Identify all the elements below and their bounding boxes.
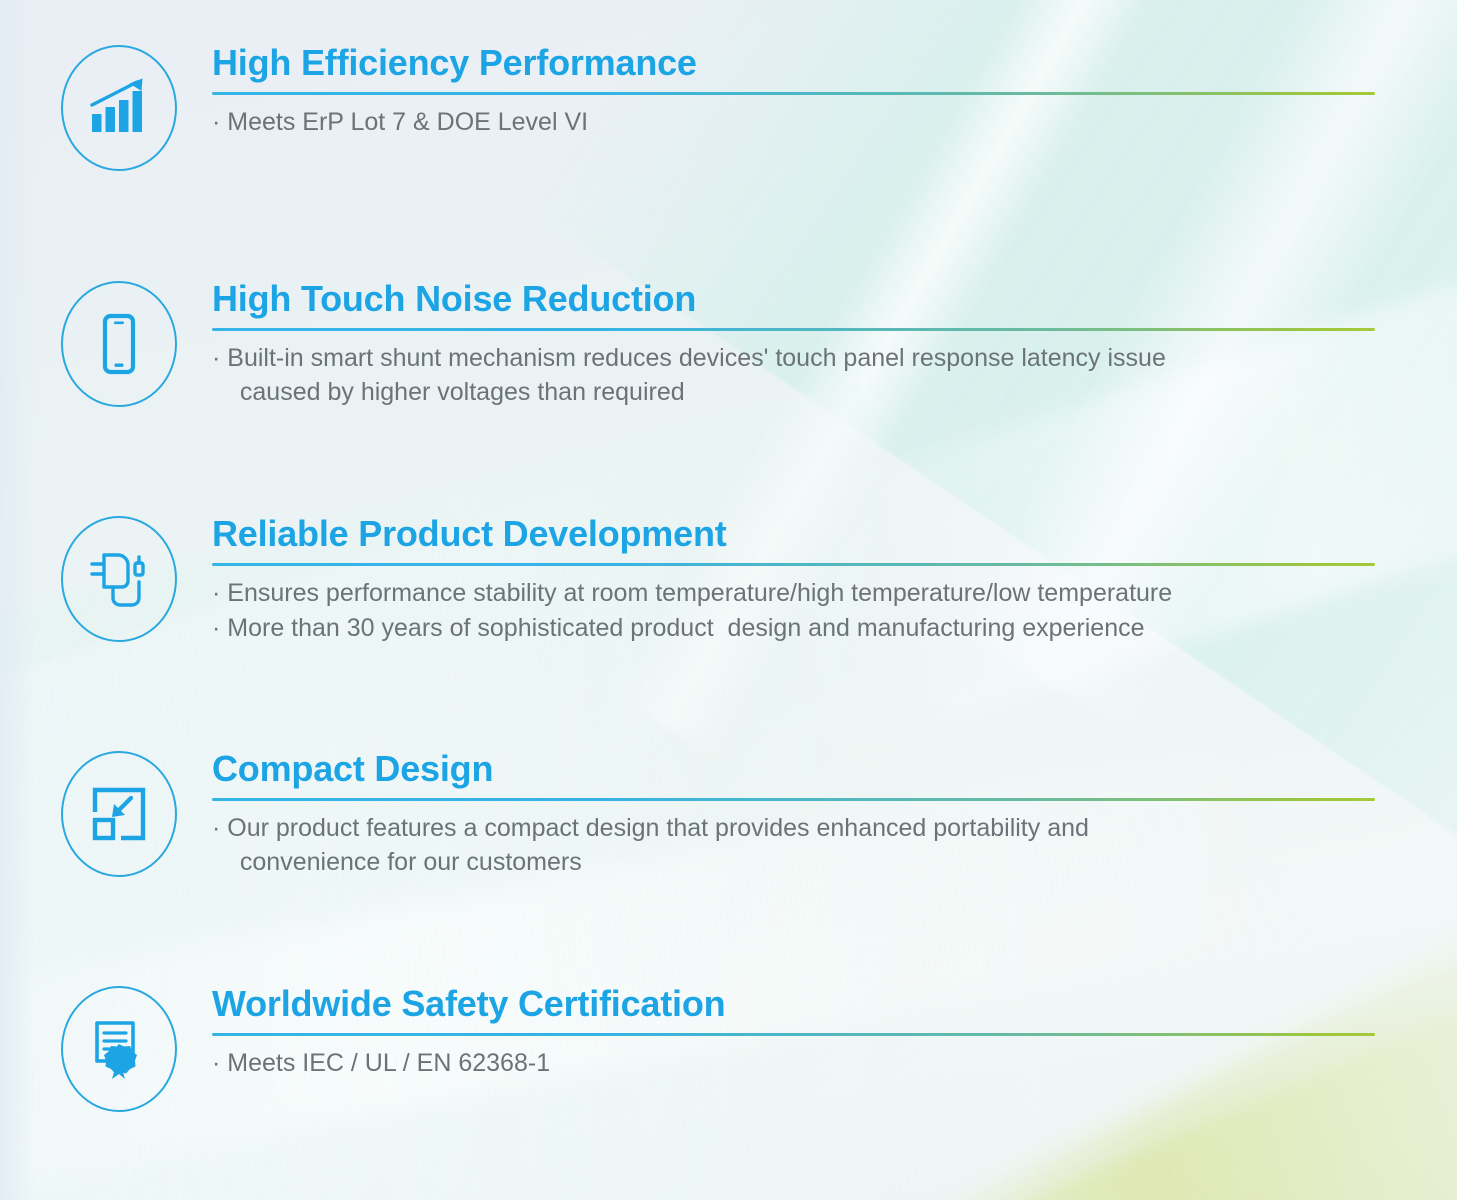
feature-list-page: High Efficiency Performance · Meets ErP … (0, 0, 1457, 1200)
feature-divider (212, 798, 1375, 801)
feature-list: High Efficiency Performance · Meets ErP … (0, 0, 1457, 1200)
feature-title: Reliable Product Development (212, 515, 1375, 552)
compact-resize-glyph (87, 782, 151, 846)
feature-bullet: · More than 30 years of sophisticated pr… (212, 611, 1375, 645)
feature-content: High Touch Noise Reduction · Built-in sm… (212, 280, 1375, 409)
feature-content: Worldwide Safety Certification · Meets I… (212, 985, 1375, 1080)
feature-bullet: · Meets IEC / UL / EN 62368-1 (212, 1046, 1375, 1080)
power-adapter-glyph (87, 547, 151, 611)
feature-bullet: · Our product features a compact design … (212, 811, 1375, 880)
power-adapter-icon (55, 515, 183, 643)
feature-title: Compact Design (212, 750, 1375, 787)
smartphone-icon (55, 280, 183, 408)
feature-bullets: · Meets IEC / UL / EN 62368-1 (212, 1046, 1375, 1080)
feature-bullet: · Built-in smart shunt mechanism reduces… (212, 341, 1375, 410)
feature-content: High Efficiency Performance · Meets ErP … (212, 44, 1375, 139)
feature-title: High Efficiency Performance (212, 44, 1375, 81)
feature-bullet: · Meets ErP Lot 7 & DOE Level VI (212, 105, 1375, 139)
feature-divider (212, 563, 1375, 566)
feature-bullets: · Our product features a compact design … (212, 811, 1375, 880)
bar-chart-growth-glyph (87, 76, 151, 140)
feature-title: Worldwide Safety Certification (212, 985, 1375, 1022)
certificate-seal-icon (55, 985, 183, 1113)
feature-title: High Touch Noise Reduction (212, 280, 1375, 317)
compact-resize-icon (55, 750, 183, 878)
feature-bullets: · Built-in smart shunt mechanism reduces… (212, 341, 1375, 410)
bar-chart-growth-icon (55, 44, 183, 172)
feature-bullet: · Ensures performance stability at room … (212, 576, 1375, 610)
feature-bullets: · Ensures performance stability at room … (212, 576, 1375, 646)
certificate-seal-glyph (87, 1017, 151, 1081)
feature-content: Reliable Product Development · Ensures p… (212, 515, 1375, 645)
feature-content: Compact Design · Our product features a … (212, 750, 1375, 879)
feature-divider (212, 328, 1375, 331)
feature-bullets: · Meets ErP Lot 7 & DOE Level VI (212, 105, 1375, 139)
smartphone-glyph (87, 312, 151, 376)
feature-divider (212, 1033, 1375, 1036)
feature-divider (212, 92, 1375, 95)
